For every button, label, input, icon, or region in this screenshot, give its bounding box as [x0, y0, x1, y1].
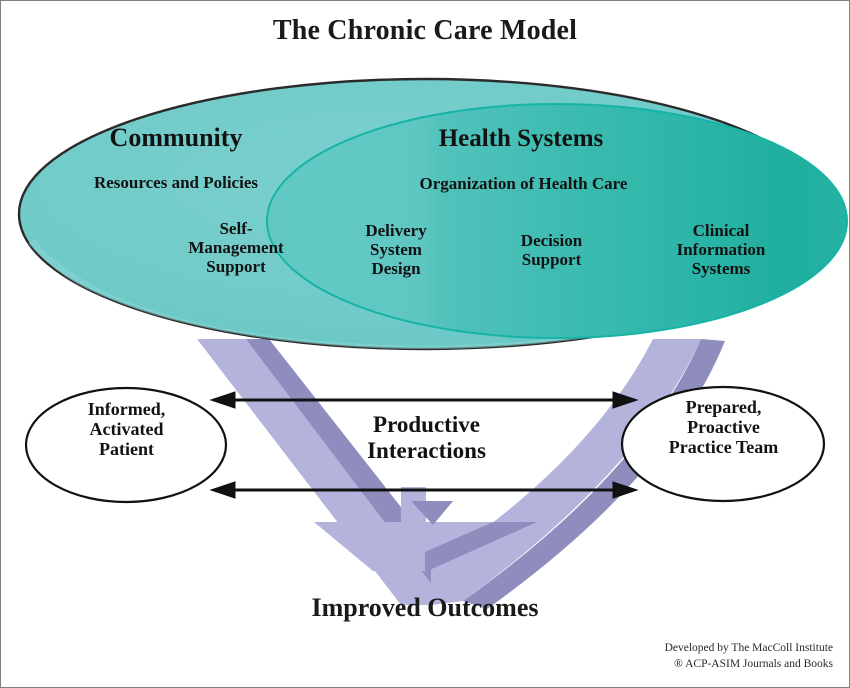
health-systems-ellipse	[267, 104, 847, 338]
credits-line-2: ® ACP-ASIM Journals and Books	[665, 656, 833, 673]
credits: Developed by The MacColl Institute ® ACP…	[665, 640, 833, 673]
interaction-arrow-top-left-head	[211, 392, 235, 408]
chronic-care-model-diagram: The Chronic Care Model	[0, 0, 850, 688]
diagram-canvas	[1, 1, 850, 688]
interaction-arrow-bottom-left-head	[211, 482, 235, 498]
improved-outcomes-label: Improved Outcomes	[1, 593, 849, 623]
informed-activated-patient-oval	[26, 388, 226, 502]
credits-line-1: Developed by The MacColl Institute	[665, 640, 833, 657]
prepared-proactive-practice-team-oval	[622, 387, 824, 501]
